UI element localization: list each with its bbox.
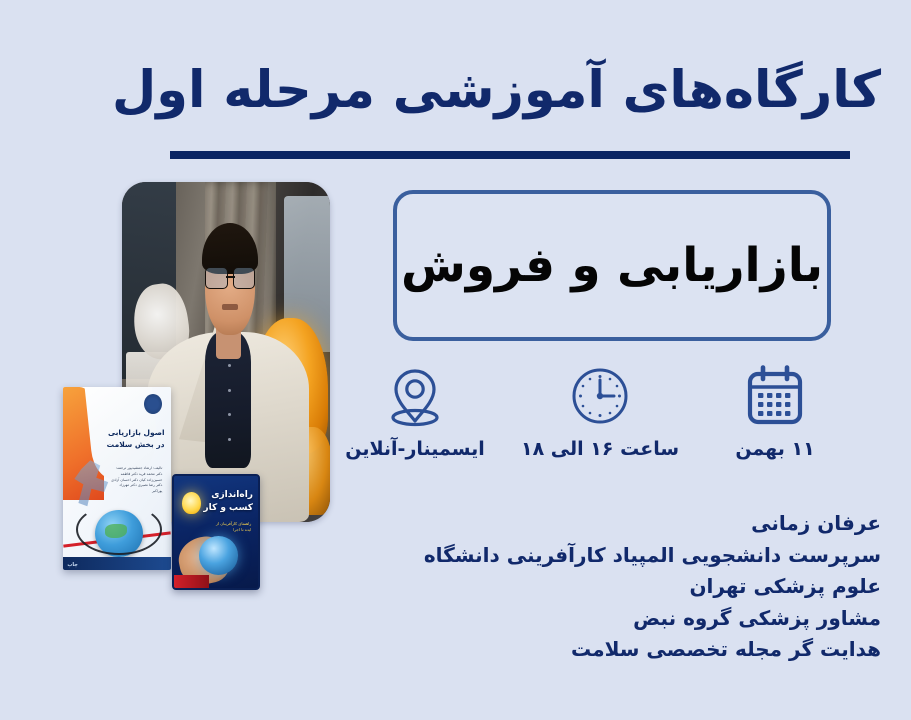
location-pin-icon: [335, 360, 495, 432]
topic-label: بازاریابی و فروش: [401, 238, 823, 293]
info-label-time: ساعت ۱۶ الی ۱۸: [520, 438, 680, 460]
bio-line-role1: سرپرست دانشجویی المپیاد کارآفرینی دانشگا…: [261, 540, 881, 572]
book2-subtitle: راهنمای کارآفرینان از ایده تا اجرا: [211, 521, 251, 533]
book1-title: اصول بازاریابی در بخش سلامت: [98, 427, 165, 450]
photo-eyeglasses: [205, 267, 255, 287]
info-item-location: ایسمینار-آنلاین: [335, 360, 495, 460]
info-label-location: ایسمینار-آنلاین: [335, 438, 495, 460]
stethoscope-icon: [76, 504, 162, 556]
clock-icon: [520, 360, 680, 432]
photo-mouth: [222, 304, 239, 309]
page-title: کارگاه‌های آموزشی مرحله اول: [0, 62, 881, 121]
title-divider: [170, 151, 850, 159]
bio-line-role4: هدایت گر مجله تخصصی سلامت: [261, 634, 881, 666]
speaker-bio: عرفان زمانی سرپرست دانشجویی المپیاد کارآ…: [261, 508, 881, 666]
book1-footer: چاپ: [67, 562, 78, 568]
blue-sphere-icon: [199, 536, 238, 574]
book-cover-startup: راه‌اندازی کسب و کار راهنمای کارآفرینان …: [172, 474, 260, 590]
book-cover-marketing: اصول بازاریابی در بخش سلامت تالیف: ارشاد…: [63, 387, 171, 570]
poster-canvas: کارگاه‌های آموزشی مرحله اول: [0, 0, 911, 720]
bio-line-role2: علوم پزشکی تهران: [261, 571, 881, 603]
info-label-date: ۱۱ بهمن: [695, 438, 855, 460]
info-item-time: ساعت ۱۶ الی ۱۸: [520, 360, 680, 460]
book2-title: راه‌اندازی کسب و کار: [198, 489, 253, 513]
info-row: ایسمینار-آنلاین سا: [330, 360, 840, 480]
topic-box: بازاریابی و فروش: [393, 190, 831, 341]
book1-authors: تالیف: ارشاد جمشیدپور ترجمه: دکتر محمد ف…: [111, 466, 163, 496]
bio-line-role3: مشاور پزشکی گروه نبض: [261, 603, 881, 635]
info-item-date: ۱۱ بهمن: [695, 360, 855, 460]
calendar-icon: [695, 360, 855, 432]
bio-line-name: عرفان زمانی: [261, 508, 881, 540]
